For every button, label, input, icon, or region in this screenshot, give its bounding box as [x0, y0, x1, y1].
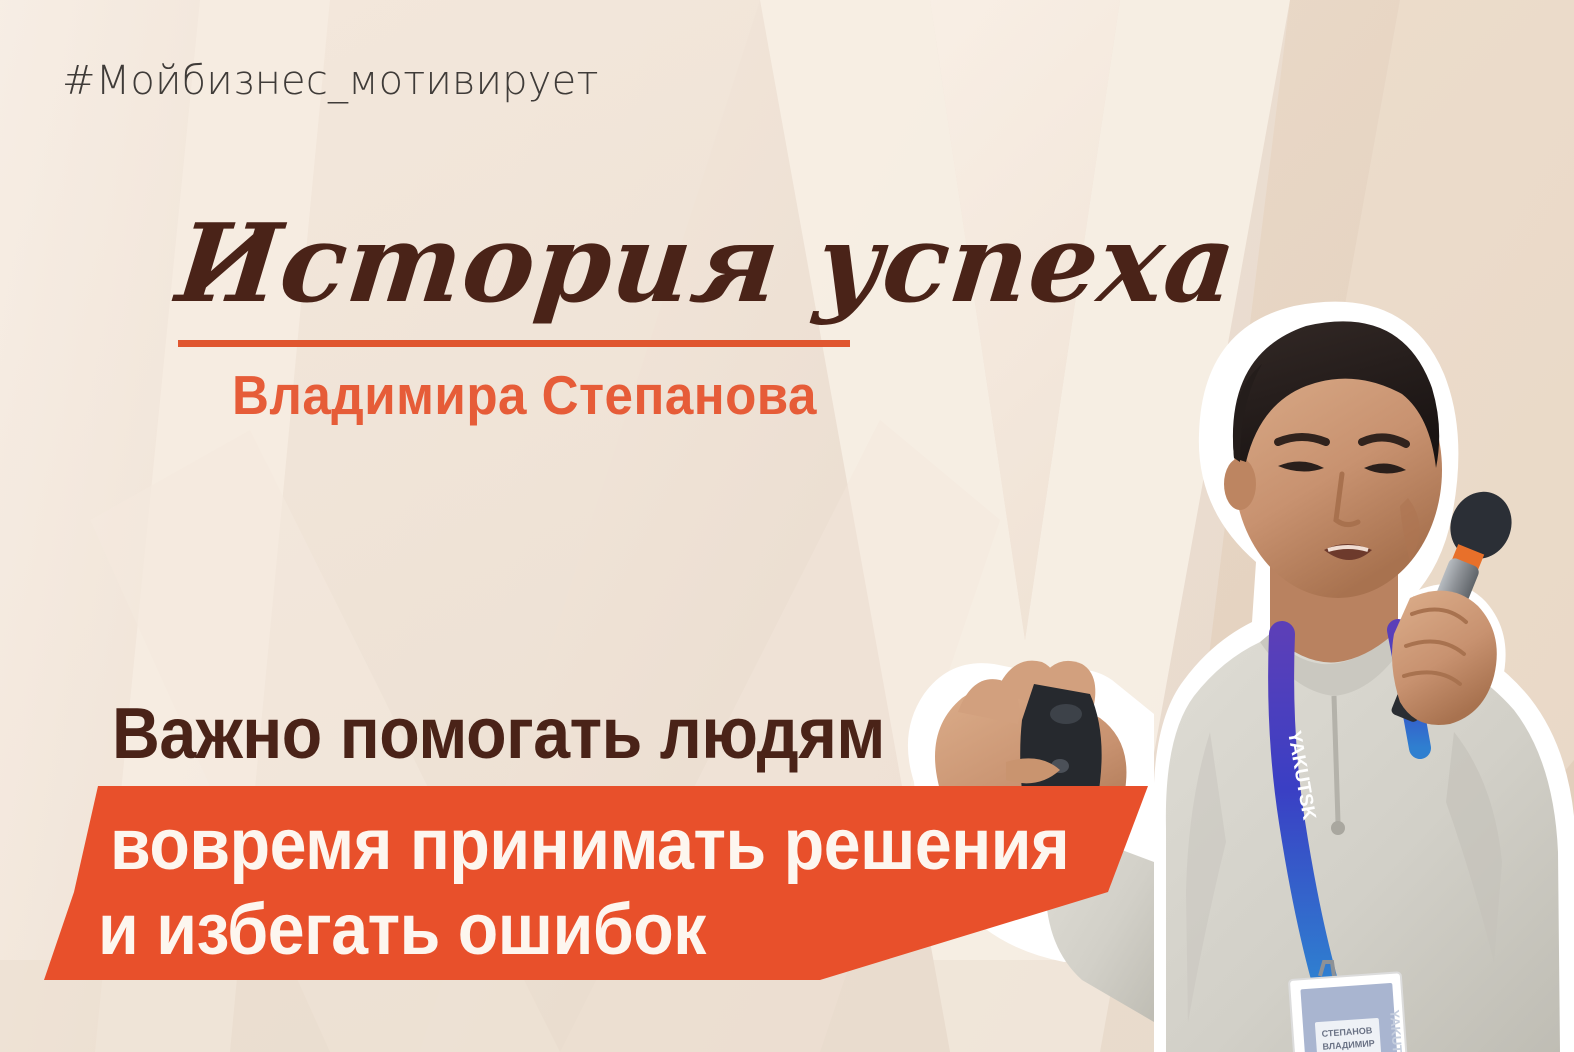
title-underline-rule: [178, 340, 850, 347]
poster-canvas: #Мойбизнес_мотивирует История успеха Вла…: [0, 0, 1574, 1052]
page-title: История успеха: [172, 208, 884, 321]
campaign-hashtag: #Мойбизнес_мотивирует: [62, 58, 599, 104]
quote-line-3: и избегать ошибок: [98, 894, 706, 966]
quote-line-1: Важно помогать людям: [112, 698, 885, 770]
title-block: История успеха: [172, 208, 872, 321]
subject-name: Владимира Степанова: [232, 368, 817, 423]
quote-block: Важно помогать людям вовремя принимать р…: [0, 690, 1200, 990]
quote-line-2: вовремя принимать решения: [110, 809, 1069, 881]
